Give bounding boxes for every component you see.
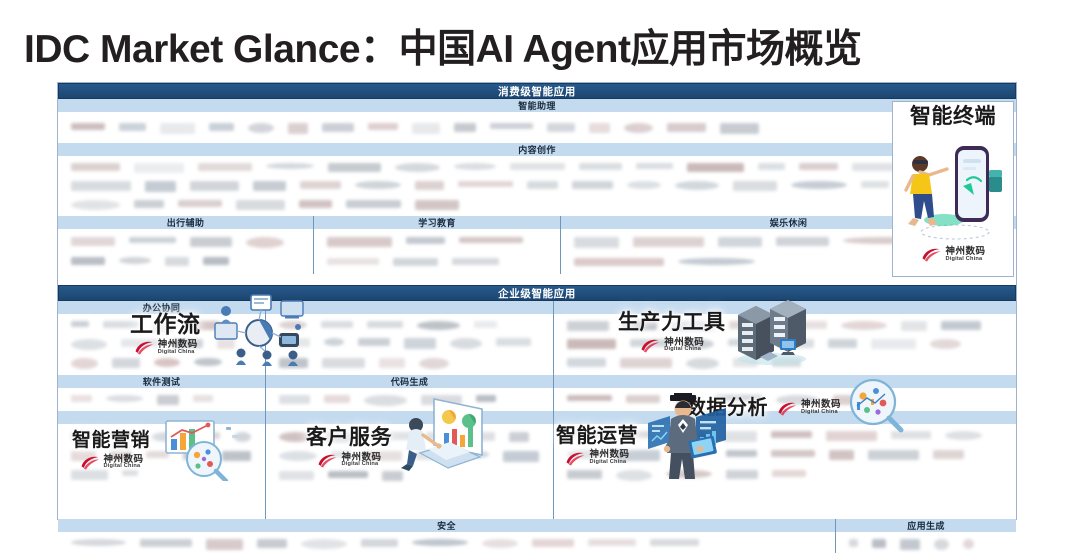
vendor-logo xyxy=(71,163,120,171)
vendor-logo xyxy=(236,200,285,210)
section-header-consumer: 消费级智能应用 xyxy=(58,83,1016,99)
vendor-logo xyxy=(572,181,613,189)
vendor-logo xyxy=(328,471,368,478)
vendor-logo xyxy=(190,237,232,247)
vendor-logo xyxy=(861,181,889,188)
vendor-logo xyxy=(415,181,444,190)
vendor-logo xyxy=(279,451,317,461)
vendor-logo xyxy=(459,237,523,243)
vendor-logo xyxy=(726,470,758,479)
vendor-logo xyxy=(322,358,365,368)
vendor-logo xyxy=(678,258,755,265)
column-travel: 出行辅助 xyxy=(58,216,313,274)
vendor-logo xyxy=(616,470,652,481)
vendor-logo xyxy=(395,163,440,172)
vendor-logo xyxy=(355,181,401,189)
subsection-header-office: 办公协同 xyxy=(58,301,265,315)
subsection-header-codegen: 代码生成 xyxy=(266,375,553,389)
vendor-logo xyxy=(829,450,854,460)
subsection-header-right-spacer-2 xyxy=(554,375,1016,389)
vendor-logo xyxy=(771,431,812,438)
vendor-logo xyxy=(772,470,806,477)
vendor-logo xyxy=(567,321,609,331)
vendor-logo xyxy=(151,432,188,442)
vendor-logo xyxy=(567,339,616,349)
vendor-logo xyxy=(122,470,138,476)
vendor-logo xyxy=(828,339,857,348)
vendor-logo xyxy=(650,539,699,546)
vendor-logo xyxy=(579,163,622,170)
vendor-logo xyxy=(279,321,307,329)
vendor-logo xyxy=(300,181,341,189)
vendor-logo xyxy=(872,539,886,548)
vendor-logo xyxy=(146,451,169,458)
vendor-logo xyxy=(370,432,412,440)
vendor-logo xyxy=(183,451,208,460)
vendor-logo xyxy=(71,358,98,369)
vendor-logo xyxy=(71,200,120,210)
vendor-logo xyxy=(154,358,180,367)
vendor-logo xyxy=(901,321,927,331)
vendor-logo xyxy=(933,450,964,459)
logo-strip-content xyxy=(58,157,1016,216)
logo-strip-data-analysis xyxy=(554,389,1016,411)
vendor-logo xyxy=(393,258,438,266)
logo-strip-security xyxy=(58,535,835,553)
vendor-logo xyxy=(490,123,533,129)
vendor-logo xyxy=(119,257,151,264)
vendor-logo xyxy=(279,338,310,347)
vendor-logo xyxy=(364,395,407,406)
vendor-logo xyxy=(826,431,877,441)
vendor-logo xyxy=(687,163,744,172)
subsection-header-assistant: 智能助理 xyxy=(58,99,1016,113)
vendor-logo xyxy=(190,181,239,191)
vendor-logo xyxy=(671,431,709,442)
vendor-logo xyxy=(279,358,308,368)
vendor-logo xyxy=(452,258,499,265)
subsection-header-security: 安全 xyxy=(58,519,835,533)
vendor-logo xyxy=(671,321,715,331)
enterprise-column-right xyxy=(553,301,1016,519)
vendor-logo xyxy=(279,395,310,404)
subsection-header-appgen: 应用生成 xyxy=(836,519,1016,533)
vendor-logo xyxy=(567,358,606,367)
vendor-logo xyxy=(404,338,436,349)
logo-strip-assistant xyxy=(58,113,1016,143)
page-title: IDC Market Glance：中国AI Agent应用市场概览 xyxy=(24,18,862,74)
vendor-logo xyxy=(870,395,895,405)
vendor-logo xyxy=(633,237,704,247)
vendor-logo xyxy=(509,432,529,442)
vendor-logo xyxy=(715,395,762,402)
vendor-logo xyxy=(71,432,93,440)
vendor-logo xyxy=(674,450,712,456)
vendor-logo xyxy=(71,257,105,265)
vendor-logo xyxy=(326,432,356,442)
vendor-logo xyxy=(299,200,332,208)
vendor-logo xyxy=(930,339,961,349)
vendor-logo xyxy=(726,450,757,457)
vendor-logo xyxy=(776,395,819,405)
vendor-logo xyxy=(157,395,179,405)
vendor-logo xyxy=(458,181,513,187)
vendor-logo xyxy=(787,339,814,348)
logo-strip-appgen xyxy=(836,535,1016,553)
subsection-header-testing: 软件测试 xyxy=(58,375,265,389)
subsection-header-right-spacer-1 xyxy=(554,301,1016,315)
vendor-logo xyxy=(172,339,203,348)
vendor-logo xyxy=(119,123,146,131)
vendor-logo xyxy=(257,539,287,548)
subsection-header-right-spacer-3 xyxy=(554,411,1016,425)
vendor-logo xyxy=(718,237,762,247)
vendor-logo xyxy=(367,321,403,328)
vendor-logo xyxy=(416,451,456,460)
vendor-logo xyxy=(454,123,476,132)
vendor-logo xyxy=(209,123,234,131)
vendor-logo xyxy=(71,181,131,191)
enterprise-footer-logos xyxy=(58,535,1016,553)
logo-strip-testing xyxy=(58,389,265,411)
vendor-logo xyxy=(496,338,531,346)
vendor-logo xyxy=(112,358,140,368)
vendor-logo xyxy=(129,237,176,243)
vendor-logo xyxy=(206,539,243,550)
column-education: 学习教育 xyxy=(313,216,560,274)
vendor-logo xyxy=(246,237,284,248)
subsection-header-middle-spacer-2 xyxy=(266,411,553,425)
vendor-logo xyxy=(103,321,139,328)
vendor-logo xyxy=(71,123,105,130)
vendor-logo xyxy=(412,539,468,546)
subsection-header-education: 学习教育 xyxy=(314,216,560,230)
vendor-logo xyxy=(346,200,401,208)
enterprise-column-left: 办公协同 软件测试 xyxy=(58,301,265,519)
vendor-logo xyxy=(900,539,920,550)
vendor-logo xyxy=(187,321,220,330)
vendor-logo xyxy=(567,395,612,401)
vendor-logo xyxy=(934,539,949,550)
vendor-logo xyxy=(682,339,714,349)
vendor-logo xyxy=(198,163,252,171)
vendor-logo xyxy=(71,395,92,402)
vendor-logo xyxy=(358,338,390,346)
vendor-logo xyxy=(454,163,496,170)
vendor-logo xyxy=(110,451,132,460)
enterprise-column-middle: 代码生成 xyxy=(265,301,553,519)
vendor-logo xyxy=(729,321,762,329)
logo-strip-education xyxy=(314,230,560,273)
vendor-logo xyxy=(253,181,286,191)
vendor-logo xyxy=(675,181,719,190)
subsection-header-travel: 出行辅助 xyxy=(58,216,313,230)
vendor-logo xyxy=(963,539,974,549)
vendor-logo xyxy=(630,339,668,347)
logo-strip-appgen-wrap xyxy=(835,535,1016,553)
vendor-logo xyxy=(791,181,847,189)
vendor-logo xyxy=(868,450,919,460)
vendor-logo xyxy=(327,258,379,265)
vendor-logo xyxy=(194,358,222,366)
vendor-logo xyxy=(248,123,274,133)
vendor-logo xyxy=(636,163,673,169)
vendor-logo xyxy=(203,257,229,265)
vendor-logo xyxy=(417,321,460,330)
vendor-logo xyxy=(406,237,445,244)
vendor-logo xyxy=(134,163,184,173)
callout-label-smart-terminal: 智能终端 xyxy=(910,105,996,128)
vendor-logo xyxy=(217,339,235,349)
vendor-logo xyxy=(527,181,558,189)
vendor-logo xyxy=(849,539,858,547)
vendor-logo xyxy=(623,321,657,330)
vendor-logo xyxy=(279,471,314,480)
person-phone-icon xyxy=(897,128,1009,244)
vendor-logo xyxy=(324,395,350,403)
vendor-logo xyxy=(588,539,636,546)
vendor-logo xyxy=(178,200,222,207)
vendor-logo xyxy=(620,358,672,368)
vendor-logo xyxy=(666,470,712,478)
vendor-logo xyxy=(674,395,701,404)
vendor-logo xyxy=(321,321,353,328)
vendor-logo xyxy=(331,451,351,458)
vendor-logo xyxy=(279,432,312,442)
vendor-logo xyxy=(891,431,931,439)
vendor-logo xyxy=(322,123,354,132)
vendor-logo xyxy=(419,358,449,369)
vendor-logo xyxy=(134,200,164,208)
vendor-logo xyxy=(720,123,759,134)
vendor-logo xyxy=(368,123,398,130)
vendor-logo xyxy=(532,539,574,547)
vendor-logo xyxy=(482,539,518,548)
vendor-logo xyxy=(771,450,815,457)
logo-strip-travel xyxy=(58,230,313,273)
vendor-logo xyxy=(121,339,158,347)
vendor-logo xyxy=(450,338,482,349)
section-header-enterprise: 企业级智能应用 xyxy=(58,285,1016,301)
digital-china-mark-icon xyxy=(920,246,942,263)
vendor-logo xyxy=(145,181,176,192)
vendor-logo xyxy=(667,123,706,132)
brand-name-en: Digital China xyxy=(945,257,985,263)
vendor-logo xyxy=(301,539,347,549)
vendor-logo xyxy=(107,432,137,438)
vendor-logo xyxy=(503,451,539,462)
vendor-logo xyxy=(626,395,660,403)
vendor-logo xyxy=(165,257,189,266)
vendor-logo xyxy=(470,451,489,458)
consumer-subcolumns: 出行辅助 学习教育 娱乐休闲 xyxy=(58,216,1016,274)
logo-strip-productivity xyxy=(554,315,1016,375)
logo-strip-security-wrap xyxy=(58,535,835,553)
vendor-logo xyxy=(871,339,916,349)
vendor-logo xyxy=(412,123,440,134)
vendor-logo xyxy=(202,432,220,439)
brand-logo: 神州数码 Digital China xyxy=(920,246,985,263)
subsection-header-content: 内容创作 xyxy=(58,143,1016,157)
vendor-logo xyxy=(324,338,344,346)
vendor-logo xyxy=(160,123,195,134)
vendor-logo xyxy=(266,163,314,169)
vendor-logo xyxy=(415,200,459,210)
vendor-logo xyxy=(589,123,610,133)
footer-column-security: 安全 xyxy=(58,519,835,535)
vendor-logo xyxy=(465,432,495,441)
vendor-logo xyxy=(945,431,982,440)
vendor-logo xyxy=(758,163,785,170)
logo-strip-workflow xyxy=(266,315,553,375)
vendor-logo xyxy=(567,470,602,479)
enterprise-columns: 办公协同 软件测试 代码生成 xyxy=(58,301,1016,519)
vendor-logo xyxy=(567,431,615,438)
vendor-logo xyxy=(629,431,657,438)
logo-strip-office xyxy=(58,315,265,375)
vendor-logo xyxy=(941,321,981,330)
vendor-logo xyxy=(361,539,398,547)
vendor-logo xyxy=(776,237,829,246)
vendor-logo xyxy=(379,358,405,368)
enterprise-footer: 安全 应用生成 xyxy=(58,519,1016,535)
logo-strip-codegen xyxy=(266,389,553,411)
footer-column-appgen: 应用生成 xyxy=(835,519,1016,535)
callout-smart-terminal: 智能终端 xyxy=(892,101,1014,277)
vendor-logo xyxy=(106,395,143,402)
vendor-logo xyxy=(71,539,126,546)
vendor-logo xyxy=(426,432,451,440)
vendor-logo xyxy=(365,451,402,461)
vendor-logo xyxy=(421,395,462,405)
logo-strip-operations xyxy=(554,425,1016,487)
vendor-logo xyxy=(153,321,173,332)
vendor-logo xyxy=(71,339,107,350)
vendor-logo xyxy=(288,123,308,134)
vendor-logo xyxy=(474,321,497,328)
vendor-logo xyxy=(799,163,838,170)
vendor-logo xyxy=(733,181,777,191)
vendor-logo xyxy=(624,123,653,133)
vendor-logo xyxy=(686,358,719,369)
vendor-logo xyxy=(627,181,661,189)
vendor-logo xyxy=(234,432,251,442)
vendor-logo xyxy=(833,395,856,405)
market-board: 消费级智能应用 智能助理 内容创作 出行辅助 学习教育 娱乐休闲 xyxy=(57,82,1017,520)
vendor-logo xyxy=(328,163,381,172)
subsection-header-left-spacer xyxy=(58,411,265,425)
vendor-logo xyxy=(574,237,619,248)
section-enterprise: 企业级智能应用 办公协同 软件测试 代码生成 xyxy=(58,285,1016,519)
vendor-logo xyxy=(510,163,565,170)
subsection-header-middle-spacer-1 xyxy=(266,301,553,315)
vendor-logo xyxy=(71,321,89,327)
vendor-logo xyxy=(616,450,660,461)
vendor-logo xyxy=(71,237,115,246)
vendor-logo xyxy=(222,451,251,461)
vendor-logo xyxy=(193,395,213,402)
vendor-logo xyxy=(733,358,758,367)
vendor-logo xyxy=(723,431,757,442)
logo-strip-marketing xyxy=(58,425,265,487)
vendor-logo xyxy=(71,470,108,480)
vendor-logo xyxy=(574,258,664,266)
vendor-logo xyxy=(728,339,773,346)
vendor-logo xyxy=(772,358,801,367)
vendor-logo xyxy=(382,471,403,481)
vendor-logo xyxy=(841,321,887,330)
section-consumer: 消费级智能应用 智能助理 内容创作 出行辅助 学习教育 娱乐休闲 xyxy=(58,83,1016,282)
vendor-logo xyxy=(71,451,96,461)
vendor-logo xyxy=(327,237,392,247)
vendor-logo xyxy=(776,321,827,329)
market-glance-page: IDC Market Glance：中国AI Agent应用市场概览 消费级智能… xyxy=(0,0,1080,525)
vendor-logo xyxy=(140,539,192,547)
vendor-logo xyxy=(476,395,496,402)
logo-strip-service xyxy=(266,425,553,487)
vendor-logo xyxy=(567,450,602,459)
vendor-logo xyxy=(547,123,575,132)
